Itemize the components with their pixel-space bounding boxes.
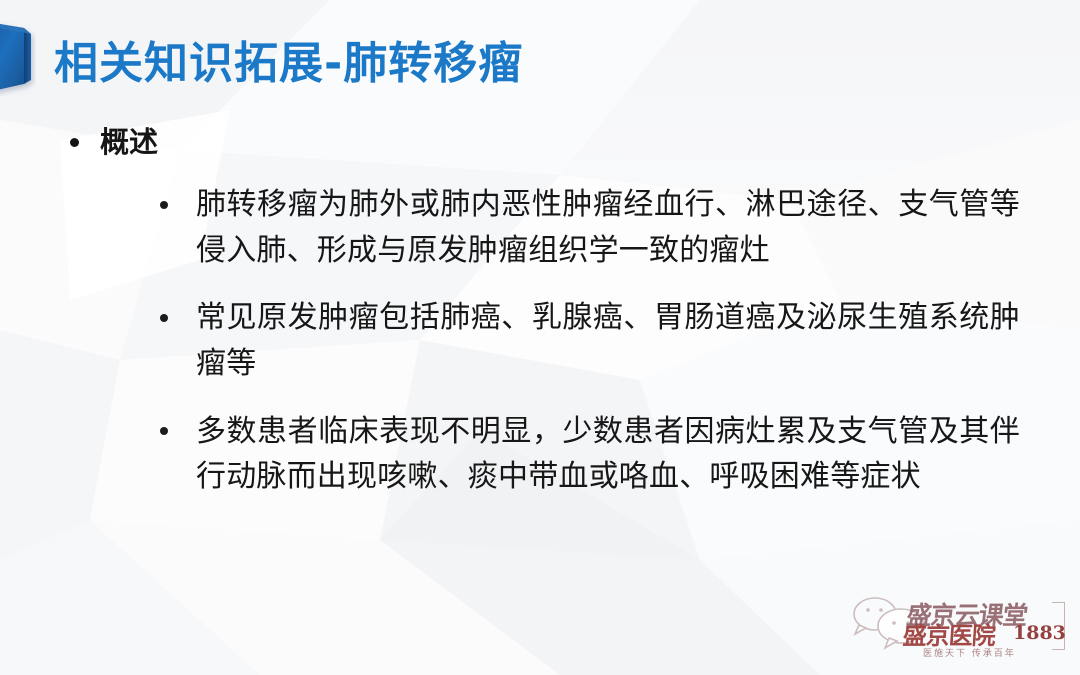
slide-header: 相关知识拓展-肺转移瘤 — [0, 0, 1080, 112]
logo-bracket — [1052, 602, 1065, 650]
slide-body: 概述 肺转移瘤为肺外或肺内恶性肿瘤经血行、淋巴途径、支气管等侵入肺、形成与原发肿… — [0, 124, 1080, 500]
outline-level2-item: 常见原发肿瘤包括肺癌、乳腺癌、胃肠道癌及泌尿生殖系统肿瘤等 — [0, 295, 1080, 386]
page-title: 相关知识拓展-肺转移瘤 — [54, 27, 523, 91]
logo-brand-main: 盛京医院 — [902, 616, 996, 651]
bullet-dot-icon — [160, 314, 168, 322]
outline-level2-list: 肺转移瘤为肺外或肺内恶性肿瘤经血行、淋巴途径、支气管等侵入肺、形成与原发肿瘤组织… — [0, 182, 1080, 500]
bullet-dot-icon — [160, 427, 168, 435]
outline-level2-label: 多数患者临床表现不明显，少数患者因病灶累及支气管及其伴行动脉而出现咳嗽、痰中带血… — [196, 414, 1020, 495]
outline-level2-label: 常见原发肿瘤包括肺癌、乳腺癌、胃肠道癌及泌尿生殖系统肿瘤等 — [196, 300, 1020, 381]
wechat-bubbles-icon — [854, 598, 924, 648]
outline-level1-label: 概述 — [100, 125, 158, 159]
bullet-dot-icon — [70, 138, 79, 147]
outline-level2-label: 肺转移瘤为肺外或肺内恶性肿瘤经血行、淋巴途径、支气管等侵入肺、形成与原发肿瘤组织… — [196, 187, 1020, 268]
outline-level1-item: 概述 — [0, 124, 1080, 160]
outline-level2-item: 多数患者临床表现不明显，少数患者因病灶累及支气管及其伴行动脉而出现咳嗽、痰中带血… — [0, 409, 1080, 500]
slide-canvas: 相关知识拓展-肺转移瘤 概述 肺转移瘤为肺外或肺内恶性肿瘤经血行、淋巴途径、支气… — [0, 0, 1080, 675]
bullet-dot-icon — [160, 201, 168, 209]
watermark-logo: 盛京云课堂 盛京医院 1883 医施天下 传承百年 — [845, 592, 1073, 668]
logo-established-year: 1883 — [1013, 622, 1066, 644]
blue-cube-icon — [0, 18, 36, 96]
outline-level2-item: 肺转移瘤为肺外或肺内恶性肿瘤经血行、淋巴途径、支气管等侵入肺、形成与原发肿瘤组织… — [0, 182, 1080, 273]
logo-tagline: 医施天下 传承百年 — [923, 646, 1016, 659]
logo-brand-top: 盛京云课堂 — [905, 596, 1029, 632]
